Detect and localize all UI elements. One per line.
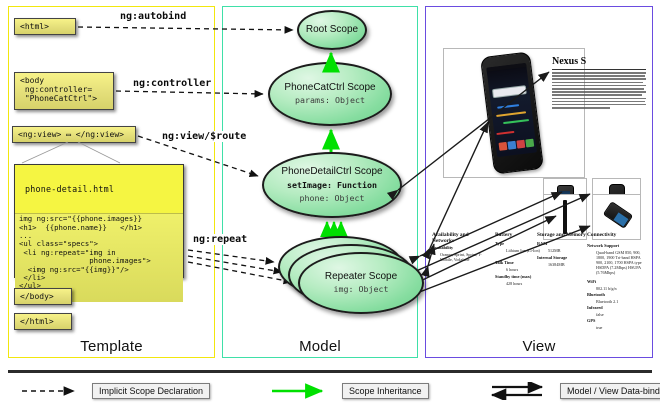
spec-sub-wifi: WiFi: [587, 279, 596, 284]
spec-val-wifi: 802.11 b/g/n: [596, 286, 617, 291]
spec-sub-standby: Standby time (max): [495, 274, 531, 279]
spec-sub-gps: GPS: [587, 318, 595, 323]
legend-label-implicit-scope-declaration: Implicit Scope Declaration: [92, 383, 210, 399]
product-title-rule: [552, 69, 646, 70]
spec-sub-availability: Availability: [432, 245, 453, 250]
product-description-paragraph: [552, 72, 646, 110]
code-phone-detail-file: phone-detail.html img ng:src="{{phone.im…: [14, 164, 184, 278]
spec-val-availability: Orange, Sprint, Sprint, T-Mobile, Vodafo…: [440, 252, 484, 262]
scope-repeater: Repeater Scope img: Object: [298, 252, 424, 314]
legend-label-model-view-databinding: Model / View Data-binding: [560, 383, 660, 399]
phone-app-icon-4: [525, 139, 534, 148]
spec-sub-network-support: Network Support: [587, 243, 619, 248]
spec-val-talk-time: 6 hours: [506, 267, 518, 272]
phone-app-icon-1: [498, 142, 507, 151]
spec-header-battery: Battery: [495, 232, 512, 238]
spec-val-gps: true: [596, 325, 602, 330]
spec-val-bluetooth: Bluetooth 2.1: [596, 299, 618, 304]
label-ng-controller: ng:controller: [131, 78, 213, 89]
dashed-arrow-icon: [16, 382, 86, 400]
label-ng-autobind: ng:autobind: [118, 11, 188, 22]
spec-sub-bluetooth: Bluetooth: [587, 292, 605, 297]
scope-phonedetailctrl-title: PhoneDetailCtrl Scope: [281, 166, 382, 177]
phone-statusbar: [486, 63, 526, 72]
spec-sub-ram: RAM: [537, 241, 547, 246]
scope-phonecatctrl: PhoneCatCtrl Scope params: Object: [268, 62, 392, 126]
code-html-close: </html>: [14, 313, 72, 330]
scope-root: Root Scope: [297, 10, 367, 50]
legend: Implicit Scope Declaration Scope Inherit…: [8, 368, 652, 414]
phone-wallpaper-line-1: [497, 104, 519, 109]
spec-val-internal-storage: 16384MB: [548, 262, 565, 267]
spec-sub-internal-storage: Internal Storage: [537, 255, 567, 260]
phone-app-icon-3: [516, 140, 525, 149]
panel-label-model: Model: [222, 338, 418, 355]
spec-header-connectivity: Connectivity: [587, 232, 616, 238]
phone-wallpaper-line-3: [503, 119, 529, 124]
spec-sub-battery-type: Type: [495, 241, 504, 246]
code-html-open: <html>: [14, 18, 76, 35]
code-body-close: </body>: [14, 288, 72, 305]
spec-val-ram: 512MB: [548, 248, 561, 253]
phone-wallpaper-line-4: [496, 131, 514, 135]
spec-val-infrared: false: [596, 312, 604, 317]
label-ng-view-route: ng:view/$route: [160, 131, 248, 142]
phone-detail-filename: phone-detail.html: [15, 182, 183, 197]
code-body-open: <body ng:controller= "PhoneCatCtrl">: [14, 72, 114, 110]
spec-val-network-support: Quad-band GSM 850, 900, 1800, 1900 Tri-b…: [596, 250, 648, 275]
code-ngview: <ng:view> ▭ </ng:view>: [12, 126, 136, 143]
scope-phonecatctrl-title: PhoneCatCtrl Scope: [284, 82, 375, 93]
legend-item-implicit-scope-declaration: Implicit Scope Declaration: [16, 382, 210, 400]
scope-phonedetailctrl-member-setimage: setImage: Function: [287, 181, 377, 191]
spec-sub-infrared: Infrared: [587, 305, 603, 310]
label-ng-repeat: ng:repeat: [191, 234, 249, 245]
panel-label-view: View: [425, 338, 653, 355]
double-arrow-icon: [484, 382, 554, 400]
diagram-canvas: <html> <body ng:controller= "PhoneCatCtr…: [0, 0, 660, 420]
scope-root-title: Root Scope: [306, 24, 358, 35]
product-title: Nexus S: [552, 56, 586, 67]
legend-item-scope-inheritance: Scope Inheritance: [266, 382, 429, 400]
scope-phonedetailctrl: PhoneDetailCtrl Scope setImage: Function…: [262, 152, 402, 218]
panel-label-template: Template: [8, 338, 215, 355]
scope-repeater-member-img: img: Object: [334, 285, 389, 295]
phone-search-widget: [492, 85, 527, 98]
phone-app-icon-2: [507, 141, 516, 150]
phone-app-dock: [497, 137, 534, 153]
scope-phonedetailctrl-member-phone: phone: Object: [300, 194, 365, 204]
spec-sub-talk-time: Talk Time: [495, 260, 514, 265]
phone-wallpaper-line-2: [496, 111, 526, 117]
legend-item-model-view-databinding: Model / View Data-binding: [484, 382, 660, 400]
scope-phonecatctrl-member-params: params: Object: [295, 96, 365, 106]
phone-screen: [486, 63, 537, 157]
green-arrow-icon: [266, 382, 336, 400]
scope-repeater-title: Repeater Scope: [325, 271, 397, 282]
spec-header-availability: Availability and Networks: [432, 232, 488, 244]
legend-label-scope-inheritance: Scope Inheritance: [342, 383, 429, 399]
spec-val-standby: 428 hours: [506, 281, 522, 286]
